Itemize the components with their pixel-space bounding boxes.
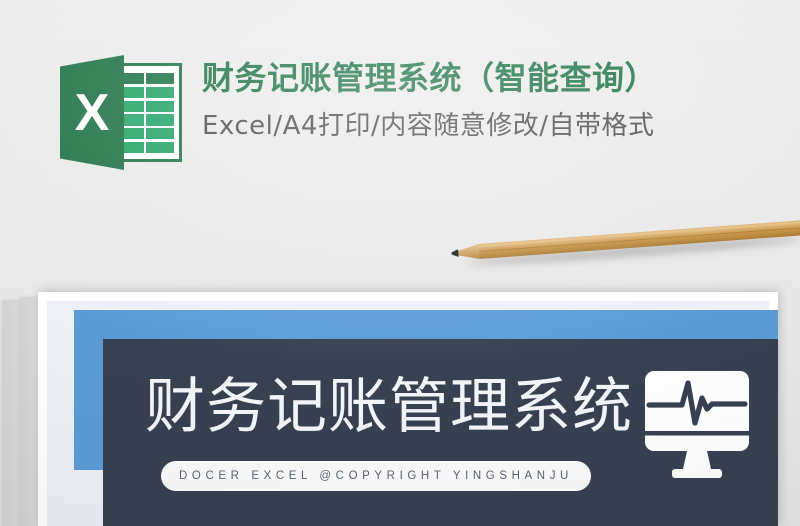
card-navy-panel: 财务记账管理系统 DOCER EXCEL @COPYRIGHT YINGSHAN… xyxy=(103,339,778,526)
page-title: 财务记账管理系统（智能查询） xyxy=(202,58,792,98)
excel-grid-cell xyxy=(146,87,174,98)
card-title: 财务记账管理系统 xyxy=(145,377,633,437)
excel-icon-letter: X xyxy=(60,55,124,170)
excel-file-icon: X xyxy=(60,55,182,170)
header-text-group: 财务记账管理系统（智能查询） Excel/A4打印/内容随意修改/自带格式 xyxy=(202,58,792,143)
monitor-pulse-icon xyxy=(645,371,749,487)
excel-grid-cell xyxy=(146,73,174,84)
page-subtitle: Excel/A4打印/内容随意修改/自带格式 xyxy=(202,110,792,143)
header-section: X 财务记账管理系统（智能查询） Excel/A4打印/内容随意修改/自带格式 xyxy=(0,0,800,230)
preview-card: 财务记账管理系统 DOCER EXCEL @COPYRIGHT YINGSHAN… xyxy=(38,292,778,526)
excel-grid xyxy=(116,73,174,153)
pencil-sharpened-tip xyxy=(455,244,480,261)
poster-canvas: X 财务记账管理系统（智能查询） Excel/A4打印/内容随意修改/自带格式 … xyxy=(0,0,800,526)
card-inner-gap: 财务记账管理系统 DOCER EXCEL @COPYRIGHT YINGSHAN… xyxy=(47,301,769,526)
excel-grid-cell xyxy=(146,128,174,139)
excel-grid-cell xyxy=(146,101,174,112)
excel-grid-cell xyxy=(146,114,174,125)
pencil-lead-icon xyxy=(451,249,459,257)
copyright-badge-label: DOCER EXCEL @COPYRIGHT YINGSHANJU xyxy=(179,470,573,482)
copyright-badge: DOCER EXCEL @COPYRIGHT YINGSHANJU xyxy=(161,461,591,491)
excel-grid-cell xyxy=(146,142,174,153)
